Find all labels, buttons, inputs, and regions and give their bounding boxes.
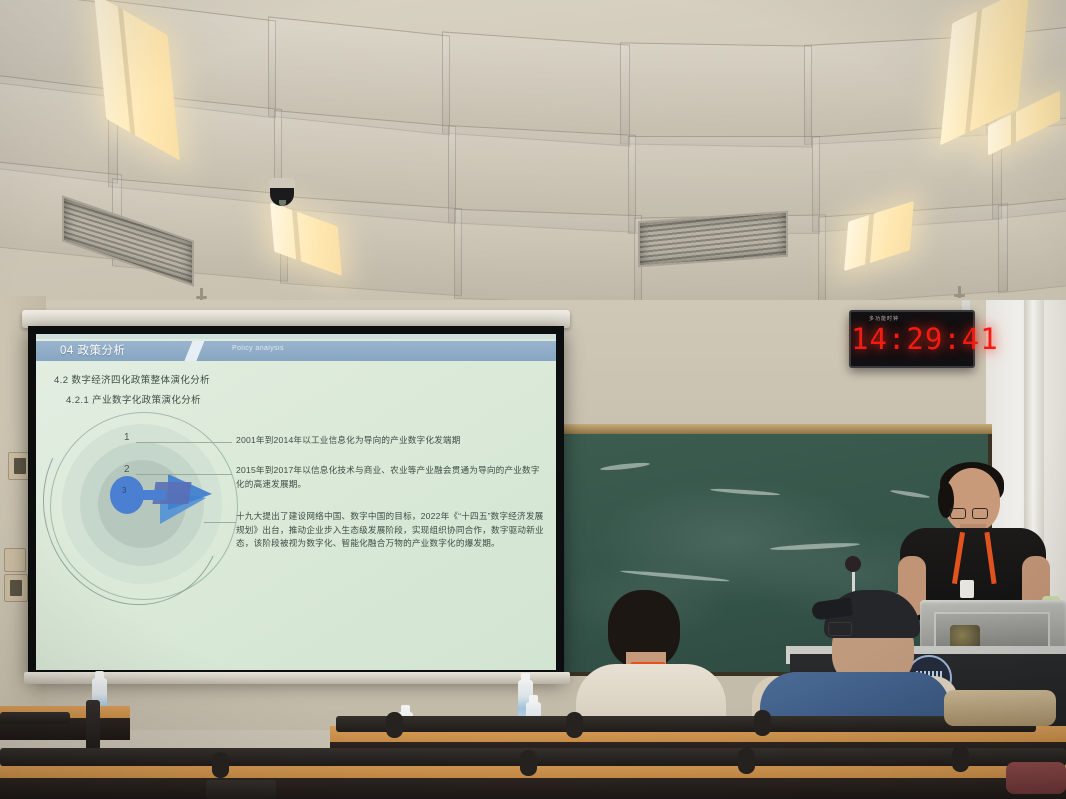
bench-post bbox=[754, 710, 771, 736]
bench-post bbox=[738, 748, 755, 774]
slide-english-subtitle: Policy analysis bbox=[232, 345, 284, 352]
slide-header-bar: 04 政策分析 Policy analysis bbox=[36, 341, 556, 361]
header-slash-decoration bbox=[181, 341, 207, 361]
slide-heading-level2: 4.2.1 产业数字化政策演化分析 bbox=[66, 392, 201, 406]
leader-line-1 bbox=[136, 442, 232, 443]
bench-seat-back bbox=[206, 780, 276, 799]
slide-paragraph-1: 2001年到2014年以工业信息化为导向的产业数字化发端期 bbox=[236, 434, 544, 448]
presentation-slide: 04 政策分析 Policy analysis 4.2 数字经济四化政策整体演化… bbox=[36, 334, 556, 670]
bench-seat-back bbox=[336, 716, 1036, 732]
bench-post bbox=[212, 752, 229, 778]
audience-member-2-glasses bbox=[828, 622, 852, 636]
leader-line-2 bbox=[136, 474, 232, 475]
presenter-id-badge bbox=[960, 580, 974, 598]
desk-front-panel bbox=[0, 778, 1066, 799]
clock-brand-label: 多功能时钟 bbox=[869, 315, 899, 322]
bench-seat-back bbox=[86, 700, 100, 750]
bag-on-desk bbox=[944, 690, 1056, 726]
sprinkler-head bbox=[958, 286, 961, 298]
wall-switch[interactable] bbox=[4, 548, 26, 572]
diagram-marker-3: 3 bbox=[122, 486, 126, 495]
slide-paragraph-2: 2015年到2017年以信息化技术与商业、农业等产业融会贯通为导向的产业数字化的… bbox=[236, 464, 544, 491]
presenter-glasses-left bbox=[950, 508, 966, 519]
slide-section-title: 04 政策分析 bbox=[60, 342, 126, 358]
slide-paragraph-3: 十九大提出了建设网络中国、数字中国的目标，2022年《“十四五”数字经济发展规划… bbox=[236, 510, 544, 551]
slide-heading-level1: 4.2 数字经济四化政策整体演化分析 bbox=[54, 372, 210, 386]
microphone-head bbox=[845, 556, 861, 572]
dart-tip bbox=[110, 476, 144, 514]
digital-clock: 多功能时钟 14:29:41 bbox=[849, 310, 975, 368]
projector-screen: 04 政策分析 Policy analysis 4.2 数字经济四化政策整体演化… bbox=[28, 326, 564, 678]
bench-post bbox=[386, 712, 403, 738]
presenter-glasses-right bbox=[972, 508, 988, 519]
clock-time-display: 14:29:41 bbox=[851, 322, 973, 356]
bench-seat-back bbox=[0, 712, 70, 724]
bench-post bbox=[520, 750, 537, 776]
diagram-marker-1: 1 bbox=[124, 432, 130, 443]
bag-red bbox=[1006, 762, 1066, 794]
bench-post bbox=[566, 712, 583, 738]
dartboard-diagram: 3 bbox=[50, 412, 238, 600]
wall-socket[interactable] bbox=[4, 574, 28, 602]
ceiling bbox=[0, 0, 1066, 318]
diagram-marker-2: 2 bbox=[124, 464, 130, 475]
bench-post bbox=[952, 746, 969, 772]
leader-line-3 bbox=[204, 522, 236, 523]
lecture-hall-photo: 多功能时钟 14:29:41 04 政策分析 Policy analysis 4… bbox=[0, 0, 1066, 799]
sprinkler-head bbox=[200, 288, 203, 300]
chalk-rail bbox=[556, 424, 992, 434]
slide-top-accent bbox=[36, 334, 556, 339]
